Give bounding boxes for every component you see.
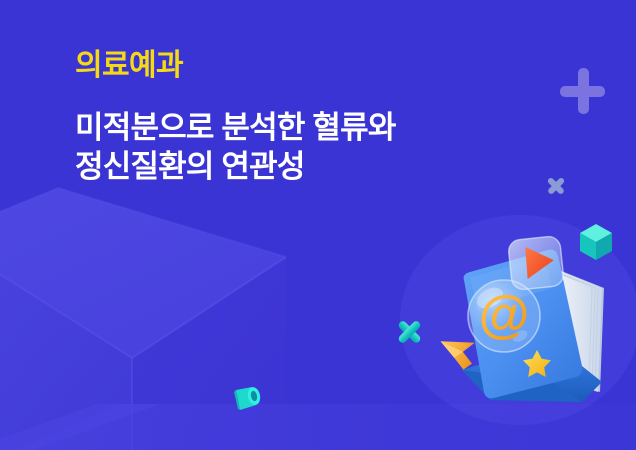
cylinder-icon <box>228 385 262 415</box>
page-title-line-2: 정신질환의 연관성 <box>75 147 545 187</box>
page-eyebrow: 의료예과 <box>75 50 545 82</box>
page-title-line-1: 미적분으로 분석한 혈류와 <box>75 108 545 148</box>
close-x-icon <box>546 175 566 195</box>
background-cube <box>0 188 286 450</box>
x-mark-icon <box>396 318 423 345</box>
background-diagonal-band-2 <box>0 404 160 450</box>
page-title: 미적분으로 분석한 혈류와 정신질환의 연관성 <box>75 108 545 187</box>
banner-text-block: 의료예과 미적분으로 분석한 혈류와 정신질환의 연관성 <box>75 50 545 187</box>
plus-icon <box>560 68 605 114</box>
book-illustration: @ <box>432 232 636 418</box>
at-symbol-icon: @ <box>479 286 530 344</box>
banner-card: 의료예과 미적분으로 분석한 혈류와 정신질환의 연관성 <box>0 0 636 450</box>
